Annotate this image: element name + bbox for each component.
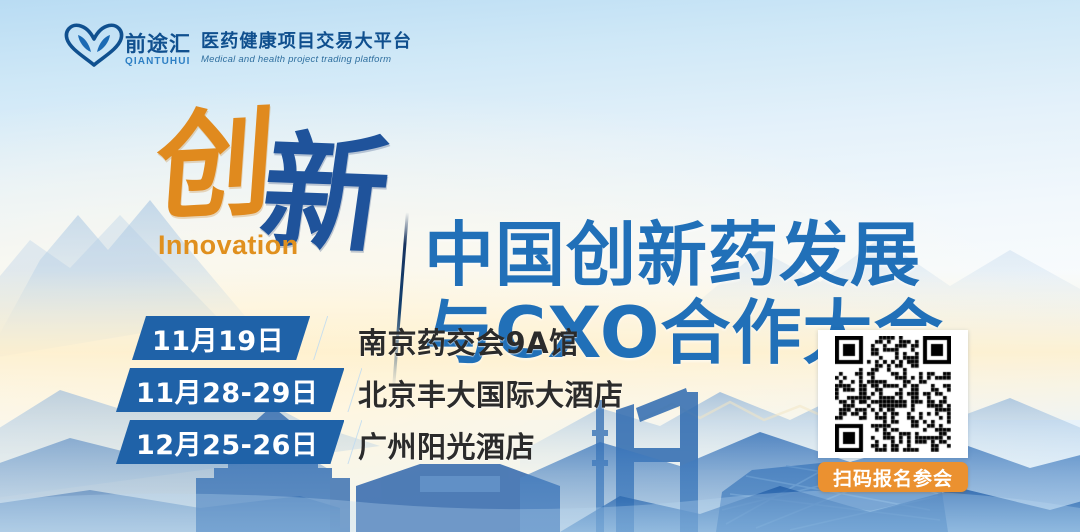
date-badge-wrap: 12月25-26日 [116,420,362,464]
logo-brand-pinyin: QIANTUHUI [125,55,190,68]
qr-code-icon[interactable] [835,336,951,452]
date-badge: 12月25-26日 [116,420,344,464]
date-badge-wrap: 11月19日 [132,316,328,360]
date-text: 11月19日 [152,319,284,358]
venue-text: 北京丰大国际大酒店 [358,372,624,414]
headline-line-1: 中国创新药发展 [424,216,944,294]
event-banner: 前途汇 QIANTUHUI 医药健康项目交易大平台 Medical and he… [0,0,1080,532]
schedule-row: 11月19日 南京药交会9A馆 [0,316,640,368]
calligraphy-group: 创 新 Innovation [150,104,390,284]
date-badge: 11月19日 [132,316,310,360]
venue-text: 南京药交会9A馆 [358,320,579,362]
qr-registration-block[interactable]: 扫码报名参会 [818,330,968,492]
schedule-list: 11月19日 南京药交会9A馆 11月28-29日 北京丰大国际大酒店 12月2… [0,316,640,472]
hero-section: 创 新 Innovation 中国创新药发展 与CXO合作大会 [0,104,1080,289]
heart-leaf-icon [61,22,127,68]
date-badge: 11月28-29日 [116,368,344,412]
badge-chip [313,316,328,360]
brand-logo: 前途汇 QIANTUHUI 医药健康项目交易大平台 Medical and he… [55,22,412,68]
qr-caption-text: 扫码报名参会 [833,464,953,491]
date-text: 11月28-29日 [136,371,318,410]
venue-text: 广州阳光酒店 [358,424,535,466]
logo-brand-cn: 前途汇 [125,33,191,55]
date-text: 12月25-26日 [136,423,318,462]
qr-caption-pill: 扫码报名参会 [818,462,968,492]
logo-tagline-en: Medical and health project trading platf… [201,53,391,67]
schedule-row: 11月28-29日 北京丰大国际大酒店 [0,368,640,420]
qr-card[interactable] [818,330,968,458]
logo-tagline-cn: 医药健康项目交易大平台 [201,32,412,53]
date-badge-wrap: 11月28-29日 [116,368,362,412]
calligraphy-english: Innovation [158,230,299,261]
schedule-row: 12月25-26日 广州阳光酒店 [0,420,640,472]
